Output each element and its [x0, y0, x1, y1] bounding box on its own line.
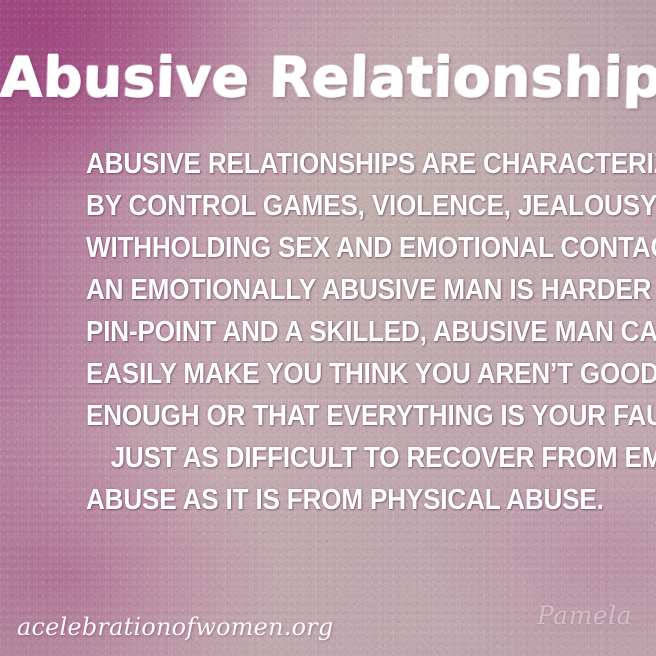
quote-body: Abusive relationships are characterized … — [86, 143, 578, 521]
quote-line: abuse as it is from physical abuse. — [86, 479, 529, 521]
quote-line: withholding sex and emotional contact. — [86, 227, 529, 269]
title-block: Abusive Relationships — [0, 49, 656, 105]
quote-line: just as difficult to recover from emotio… — [111, 437, 554, 479]
poster-content: Abusive Relationships Abusive relationsh… — [0, 0, 656, 656]
quote-line: enough or that everything is your fault.… — [86, 395, 529, 437]
page-title: Abusive Relationships — [0, 49, 656, 105]
quote-poster: Abusive Relationships Abusive relationsh… — [0, 0, 656, 656]
quote-line: An emotionally abusive man is harder to — [86, 269, 529, 311]
quote-line: pin-point and a skilled, abusive man can — [86, 311, 529, 353]
site-url-watermark[interactable]: acelebrationofwomen.org — [17, 613, 333, 641]
quote-line: by control games, violence, jealousy and — [86, 185, 529, 227]
quote-line: easily make you think you aren’t good — [86, 353, 529, 395]
quote-line: Abusive relationships are characterized — [86, 143, 529, 185]
author-signature: Pamela — [537, 601, 632, 630]
